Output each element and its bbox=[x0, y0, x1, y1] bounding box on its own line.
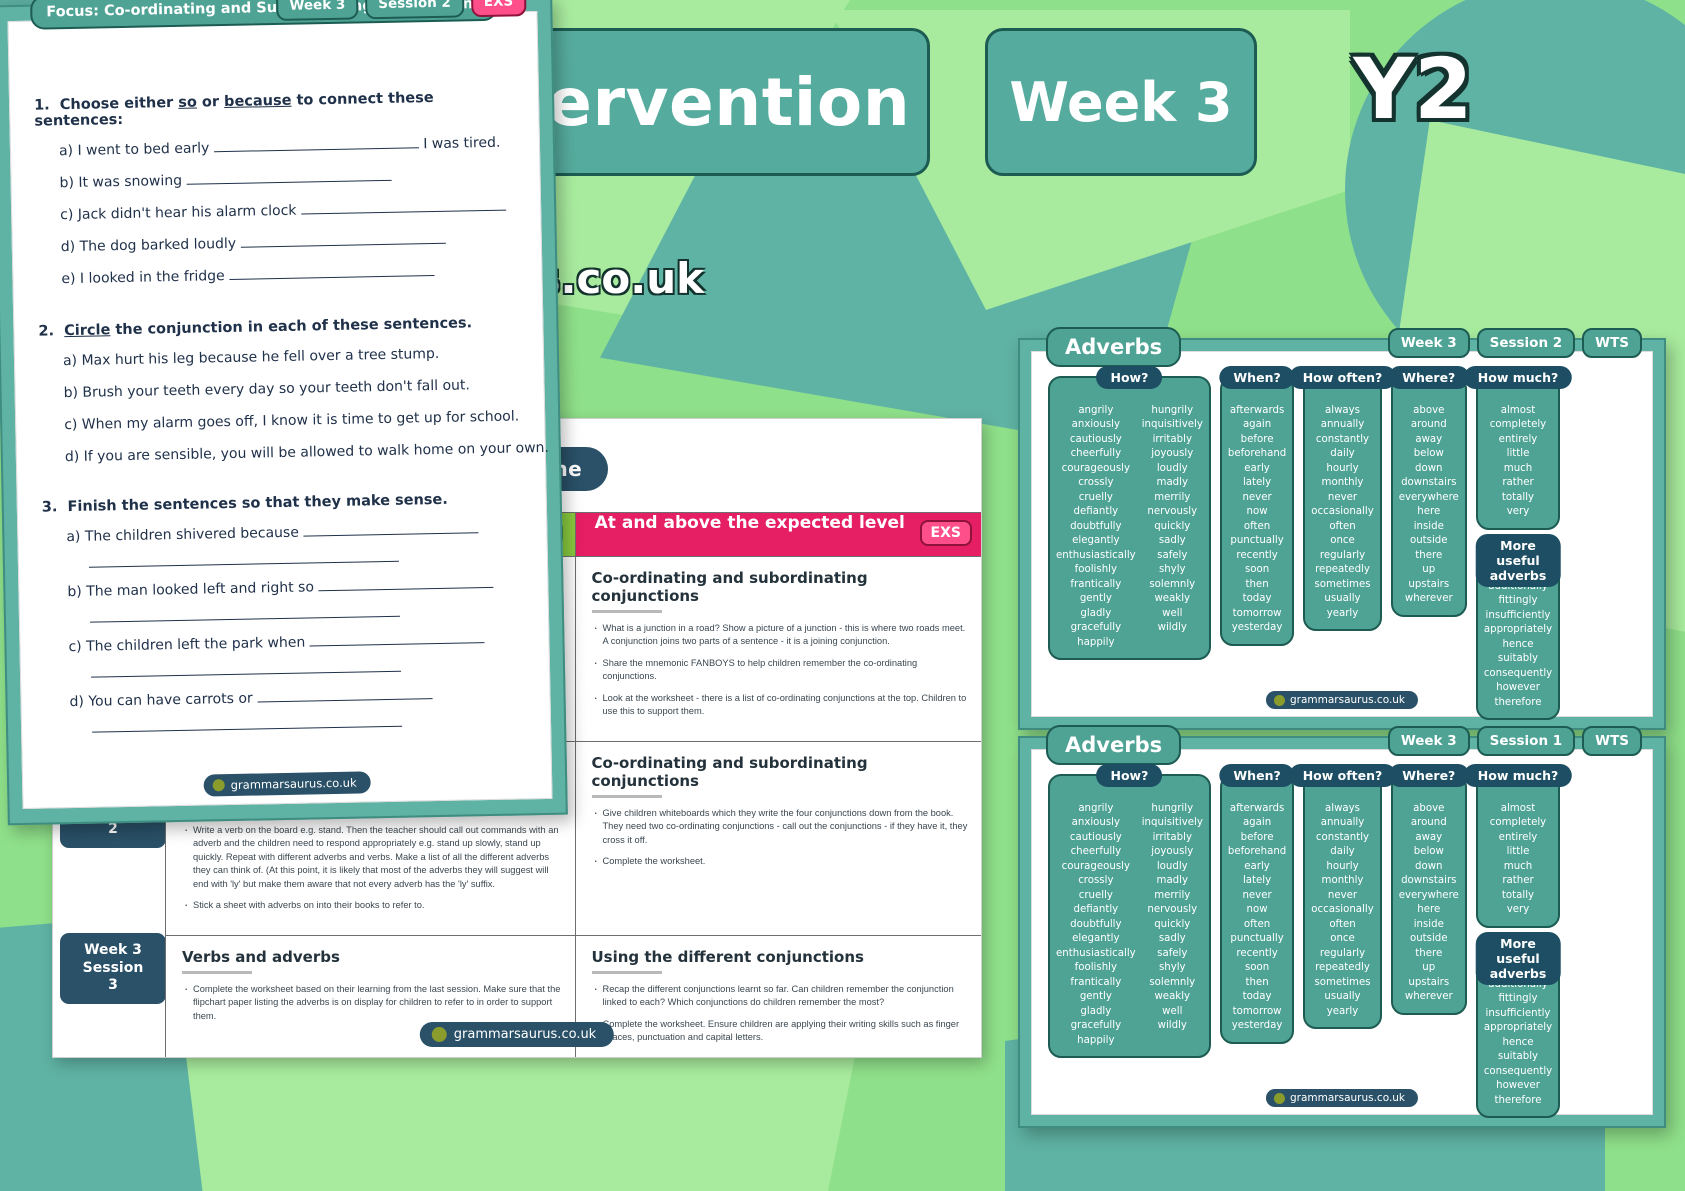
adverb-column-where: Where?abovearoundawaybelowdowndownstairs… bbox=[1391, 774, 1467, 1015]
adverb-word: punctually bbox=[1230, 932, 1283, 946]
adverb-word: shyly bbox=[1159, 563, 1186, 577]
worksheet-question-item[interactable]: b) It was snowing bbox=[59, 166, 515, 191]
adverb-column-heading: More useful adverbs bbox=[1476, 932, 1561, 985]
document-conjunctions-worksheet[interactable]: Focus: Co-ordinating and Subordinating c… bbox=[0, 0, 568, 825]
adverb-word: hence bbox=[1502, 1036, 1533, 1050]
adverbs-poster-page-1: Adverbs Week 3 Session 1 WTS How?angrily… bbox=[1031, 749, 1653, 1115]
adverb-word: regularly bbox=[1320, 549, 1365, 563]
adverb-word: gently bbox=[1080, 592, 1112, 606]
adverb-column-howoften: How often?alwaysannuallyconstantlydailyh… bbox=[1303, 376, 1381, 631]
adverb-word: wherever bbox=[1405, 592, 1453, 606]
adverb-word: repeatedly bbox=[1315, 961, 1370, 975]
adverb-word: never bbox=[1242, 889, 1271, 903]
adverb-word: however bbox=[1496, 681, 1540, 695]
adverb-word: recently bbox=[1236, 947, 1277, 961]
adverb-word: sadly bbox=[1159, 932, 1186, 946]
adverb-word: beforehand bbox=[1228, 447, 1286, 461]
adverb-word: crossly bbox=[1078, 476, 1113, 490]
year-group-badge: Y2 bbox=[1318, 34, 1508, 144]
adverbs-columns-1: How?angrilyanxiouslycautiouslycheerfully… bbox=[1048, 774, 1640, 1118]
adverb-word: repeatedly bbox=[1315, 563, 1370, 577]
adverb-word-list-b: hungrilyinquisitivelyirritablyjoyouslylo… bbox=[1142, 404, 1203, 650]
adverb-word: downstairs bbox=[1401, 476, 1456, 490]
adverb-word: completely bbox=[1490, 816, 1546, 830]
part-one-footer: grammarsaurus.co.uk bbox=[420, 1022, 614, 1047]
adverb-word: weakly bbox=[1154, 990, 1190, 1004]
adverb-word: beforehand bbox=[1228, 845, 1286, 859]
table-cell-exs: Co-ordinating and subordinating conjunct… bbox=[575, 741, 982, 935]
adverb-word: today bbox=[1243, 592, 1272, 606]
adverb-word: doubtfully bbox=[1070, 918, 1121, 932]
grammarsaurus-dot-icon bbox=[1274, 1093, 1285, 1104]
adverb-word: angrily bbox=[1078, 802, 1113, 816]
adverb-column-how: How?angrilyanxiouslycautiouslycheerfully… bbox=[1048, 774, 1211, 1058]
adverb-word: outside bbox=[1410, 932, 1448, 946]
answer-blank-line[interactable] bbox=[90, 616, 400, 623]
adverb-word: occasionally bbox=[1311, 505, 1373, 519]
adverb-word: well bbox=[1162, 1005, 1182, 1019]
adverb-word: below bbox=[1414, 447, 1444, 461]
adverb-column-group: How much?almostcompletelyentirelylittlem… bbox=[1476, 376, 1560, 720]
item-label: c) bbox=[60, 207, 78, 223]
question-3-block: 3. Finish the sentences so that they mak… bbox=[18, 490, 550, 734]
adverb-column-heading: How much? bbox=[1464, 366, 1572, 389]
heading-rule bbox=[592, 795, 662, 798]
adverbs-poster-title-1: Adverbs bbox=[1046, 725, 1181, 765]
week-banner: Week 3 bbox=[985, 28, 1257, 176]
item-text: You can have carrots or bbox=[88, 690, 257, 709]
adverb-word: doubtfully bbox=[1070, 520, 1121, 534]
adverb-column-group: How often?alwaysannuallyconstantlydailyh… bbox=[1303, 376, 1381, 631]
cell-bullet: What is a junction in a road? Show a pic… bbox=[592, 622, 971, 649]
adverb-word-list-a: angrilyanxiouslycautiouslycheerfullycour… bbox=[1056, 404, 1136, 650]
adverb-word-list-a: afterwardsagainbeforebeforehandearlylate… bbox=[1228, 404, 1286, 636]
question-1-block: 1. Choose either so or because to connec… bbox=[10, 88, 542, 288]
cell-bullet: Complete the worksheet based on their le… bbox=[182, 983, 561, 1023]
adverb-word: upstairs bbox=[1408, 578, 1449, 592]
adverb-word: tomorrow bbox=[1233, 1005, 1282, 1019]
adverb-word: away bbox=[1415, 433, 1442, 447]
worksheet-question-item[interactable]: a) The children shivered because bbox=[66, 520, 522, 545]
adverb-column-heading: When? bbox=[1219, 764, 1294, 787]
adverb-word: foolishly bbox=[1075, 961, 1117, 975]
adverbs-poster-badges-1: Week 3 Session 1 WTS bbox=[1388, 726, 1642, 756]
adverb-word: courageously bbox=[1062, 462, 1130, 476]
adverb-word: early bbox=[1244, 860, 1270, 874]
item-text-after: I was tired. bbox=[419, 135, 501, 153]
worksheet-question-item[interactable]: a) Max hurt his leg because he fell over… bbox=[63, 344, 519, 369]
adverb-word: wildly bbox=[1158, 1019, 1187, 1033]
worksheet-question-item[interactable]: d) The dog barked loudly bbox=[61, 230, 517, 255]
item-text: I went to bed early bbox=[77, 140, 214, 159]
adverb-word-list-a: abovearoundawaybelowdowndownstairseveryw… bbox=[1399, 404, 1459, 607]
adverb-word: yearly bbox=[1327, 1005, 1359, 1019]
adverb-word: always bbox=[1325, 802, 1360, 816]
adverb-word: above bbox=[1413, 404, 1444, 418]
adverb-word: joyously bbox=[1151, 447, 1193, 461]
adverb-word: annually bbox=[1321, 816, 1365, 830]
adverb-word: punctually bbox=[1230, 534, 1283, 548]
adverb-word: fittingly bbox=[1498, 594, 1537, 608]
adverb-word: there bbox=[1415, 947, 1442, 961]
year-group-label: Y2 bbox=[1353, 40, 1472, 138]
adverb-word-list-a: abovearoundawaybelowdowndownstairseveryw… bbox=[1399, 802, 1459, 1005]
adverb-word: loudly bbox=[1157, 462, 1188, 476]
adverb-column-group: How?angrilyanxiouslycautiouslycheerfully… bbox=[1048, 774, 1211, 1058]
column-header-exs: At and above the expected level EXS bbox=[575, 513, 982, 557]
session-tag-3: Week 3 Session 3 bbox=[60, 933, 166, 1004]
adverb-word: here bbox=[1417, 505, 1440, 519]
item-label: e) bbox=[61, 271, 80, 287]
cell-bullet: Give children whiteboards which they wri… bbox=[592, 807, 971, 847]
adverb-word: wildly bbox=[1158, 621, 1187, 635]
adverb-word: joyously bbox=[1151, 845, 1193, 859]
adverb-word: entirely bbox=[1499, 831, 1538, 845]
worksheet-question-item[interactable]: d) You can have carrots or bbox=[69, 685, 525, 710]
adverb-word: happily bbox=[1077, 636, 1114, 650]
worksheet-footer: grammarsaurus.co.uk bbox=[203, 771, 370, 796]
adverb-word: constantly bbox=[1316, 433, 1369, 447]
adverb-column-heading: Where? bbox=[1388, 764, 1469, 787]
adverb-word: rather bbox=[1502, 874, 1533, 888]
adverbs-poster-footer-1: grammarsaurus.co.uk bbox=[1266, 1089, 1418, 1107]
adverb-word: regularly bbox=[1320, 947, 1365, 961]
cell-bullet: Recap the different conjunctions learnt … bbox=[592, 983, 971, 1010]
adverb-word: irritably bbox=[1153, 433, 1192, 447]
adverb-word: much bbox=[1504, 462, 1532, 476]
adverb-word: madly bbox=[1157, 476, 1189, 490]
adverb-word: very bbox=[1507, 505, 1530, 519]
adverb-word: very bbox=[1507, 903, 1530, 917]
adverb-word: enthusiastically bbox=[1056, 947, 1136, 961]
answer-blank-line[interactable] bbox=[91, 671, 401, 678]
adverb-word-list-a: almostcompletelyentirelylittlemuchrather… bbox=[1490, 404, 1546, 520]
adverb-word: often bbox=[1244, 520, 1270, 534]
worksheet-question-item[interactable]: d) If you are sensible, you will be allo… bbox=[65, 440, 521, 465]
adverb-word: above bbox=[1413, 802, 1444, 816]
adverb-column-group: How much?almostcompletelyentirelylittlem… bbox=[1476, 774, 1560, 1118]
adverb-word: again bbox=[1243, 418, 1271, 432]
adverb-word: inside bbox=[1414, 520, 1444, 534]
answer-blank[interactable] bbox=[303, 532, 478, 536]
adverb-word: sometimes bbox=[1314, 578, 1370, 592]
adverb-word: safely bbox=[1157, 947, 1187, 961]
heading-rule bbox=[592, 971, 662, 974]
item-text: The children left the park when bbox=[86, 634, 310, 654]
document-adverbs-poster-session-2[interactable]: Adverbs Week 3 Session 2 WTS How?angrily… bbox=[1018, 338, 1666, 730]
adverb-word: gladly bbox=[1080, 607, 1111, 621]
adverb-word: little bbox=[1507, 447, 1530, 461]
question-2-items: a) Max hurt his leg because he fell over… bbox=[39, 344, 521, 465]
adverb-word: inquisitively bbox=[1142, 816, 1203, 830]
table-cell-exs: Using the different conjunctionsRecap th… bbox=[575, 935, 982, 1058]
adverb-word: around bbox=[1411, 816, 1447, 830]
adverb-word: therefore bbox=[1494, 696, 1541, 710]
adverbs-poster-badges-2: Week 3 Session 2 WTS bbox=[1388, 328, 1642, 358]
adverb-word: almost bbox=[1501, 404, 1536, 418]
worksheet-question-item[interactable]: c) When my alarm goes off, I know it is … bbox=[64, 408, 520, 433]
adverb-word: weakly bbox=[1154, 592, 1190, 606]
adverb-word: shyly bbox=[1159, 961, 1186, 975]
cell-bullet: Stick a sheet with adverbs on into their… bbox=[182, 899, 561, 912]
adverb-word: fittingly bbox=[1498, 992, 1537, 1006]
adverb-word: hourly bbox=[1326, 462, 1358, 476]
adverb-word: suitably bbox=[1498, 1050, 1538, 1064]
adverb-column-heading: More useful adverbs bbox=[1476, 534, 1561, 587]
item-label: c) bbox=[68, 639, 86, 655]
adverb-word: therefore bbox=[1494, 1094, 1541, 1108]
adverb-word: hence bbox=[1502, 638, 1533, 652]
adverb-word: cheerfully bbox=[1071, 447, 1122, 461]
poster2-badge-session: Session 2 bbox=[1477, 328, 1576, 358]
adverb-column-heading: When? bbox=[1219, 366, 1294, 389]
adverb-word: cruelly bbox=[1079, 889, 1113, 903]
adverb-word: nervously bbox=[1147, 505, 1197, 519]
question-2-prompt: 2. Circle the conjunction in each of the… bbox=[38, 314, 518, 339]
heading-rule bbox=[182, 971, 252, 974]
adverb-column-heading: How often? bbox=[1289, 764, 1397, 787]
adverb-word: before bbox=[1241, 831, 1274, 845]
item-label: a) bbox=[66, 529, 85, 545]
adverb-word: consequently bbox=[1484, 667, 1552, 681]
adverb-word: almost bbox=[1501, 802, 1536, 816]
poster1-badge-session: Session 1 bbox=[1477, 726, 1576, 756]
adverb-word: lately bbox=[1243, 476, 1271, 490]
adverb-column-how: How?angrilyanxiouslycautiouslycheerfully… bbox=[1048, 376, 1211, 660]
adverb-word: appropriately bbox=[1484, 1021, 1552, 1035]
adverbs-columns-2: How?angrilyanxiouslycautiouslycheerfully… bbox=[1048, 376, 1640, 720]
adverb-word: up bbox=[1422, 563, 1435, 577]
adverb-word: cautiously bbox=[1070, 831, 1122, 845]
adverb-word: usually bbox=[1324, 592, 1360, 606]
adverb-word: once bbox=[1330, 534, 1355, 548]
worksheet-question-item[interactable]: b) The man looked left and right so bbox=[67, 575, 523, 600]
worksheet-question-item[interactable]: c) Jack didn't hear his alarm clock bbox=[60, 198, 516, 223]
cell-bullet: Complete the worksheet. bbox=[592, 855, 971, 868]
answer-blank[interactable] bbox=[187, 180, 392, 185]
adverb-column-when: When?afterwardsagainbeforebeforehandearl… bbox=[1220, 774, 1294, 1044]
adverb-column-where: Where?abovearoundawaybelowdowndownstairs… bbox=[1391, 376, 1467, 617]
adverb-word: yesterday bbox=[1232, 1019, 1283, 1033]
adverb-word: gladly bbox=[1080, 1005, 1111, 1019]
adverb-word: crossly bbox=[1078, 874, 1113, 888]
adverb-word: defiantly bbox=[1073, 505, 1118, 519]
question-1-prompt: 1. Choose either so or because to connec… bbox=[34, 88, 515, 129]
adverb-word: often bbox=[1329, 520, 1355, 534]
adverb-word: hourly bbox=[1326, 860, 1358, 874]
adverb-column-heading: Where? bbox=[1388, 366, 1469, 389]
adverb-column-heading: How? bbox=[1096, 764, 1162, 787]
answer-blank[interactable] bbox=[257, 698, 432, 702]
adverb-word: again bbox=[1243, 816, 1271, 830]
adverb-word: soon bbox=[1245, 563, 1269, 577]
adverb-column-howoften: How often?alwaysannuallyconstantlydailyh… bbox=[1303, 774, 1381, 1029]
adverb-word: yesterday bbox=[1232, 621, 1283, 635]
item-text: The man looked left and right so bbox=[86, 579, 318, 599]
item-text: The children shivered because bbox=[85, 525, 304, 545]
resource-preview-page: Grammar Intervention Week 3 Y2 G grammar… bbox=[0, 0, 1685, 1191]
adverb-word: now bbox=[1247, 505, 1268, 519]
item-text: The dog barked loudly bbox=[79, 236, 240, 255]
adverb-word: totally bbox=[1502, 889, 1534, 903]
adverb-column-group: Where?abovearoundawaybelowdowndownstairs… bbox=[1391, 376, 1467, 617]
worksheet-question-item[interactable]: c) The children left the park when bbox=[68, 630, 524, 655]
adverb-word: cruelly bbox=[1079, 491, 1113, 505]
adverb-word: there bbox=[1415, 549, 1442, 563]
item-label: b) bbox=[67, 584, 86, 600]
adverb-column-more-useful-adverbs: More useful adverbsadditionallyfittingly… bbox=[1476, 544, 1560, 720]
adverb-word: gently bbox=[1080, 990, 1112, 1004]
cell-heading: Verbs and adverbs bbox=[182, 948, 561, 966]
cell-bullet: Complete the worksheet. Ensure children … bbox=[592, 1018, 971, 1045]
answer-blank-line[interactable] bbox=[92, 726, 402, 733]
cell-bullet: Share the mnemonic FANBOYS to help child… bbox=[592, 657, 971, 684]
adverb-word: daily bbox=[1330, 447, 1354, 461]
worksheet-question-item[interactable]: b) Brush your teeth every day so your te… bbox=[63, 376, 519, 401]
adverb-word: foolishly bbox=[1075, 563, 1117, 577]
adverb-word: often bbox=[1329, 918, 1355, 932]
document-adverbs-poster-session-1[interactable]: Adverbs Week 3 Session 1 WTS How?angrily… bbox=[1018, 736, 1666, 1128]
adverb-word: up bbox=[1422, 961, 1435, 975]
adverb-word: now bbox=[1247, 903, 1268, 917]
adverb-word: defiantly bbox=[1073, 903, 1118, 917]
adverb-word: appropriately bbox=[1484, 623, 1552, 637]
adverb-word: completely bbox=[1490, 418, 1546, 432]
worksheet-badge-week: Week 3 bbox=[276, 0, 358, 21]
answer-blank[interactable] bbox=[241, 243, 446, 248]
grammarsaurus-dot-icon bbox=[1274, 695, 1285, 706]
poster1-badge-level: WTS bbox=[1582, 726, 1642, 756]
adverb-column-group: Where?abovearoundawaybelowdowndownstairs… bbox=[1391, 774, 1467, 1015]
adverb-column-group: When?afterwardsagainbeforebeforehandearl… bbox=[1220, 376, 1294, 646]
adverb-word: always bbox=[1325, 404, 1360, 418]
adverb-word-list-a: afterwardsagainbeforebeforehandearlylate… bbox=[1228, 802, 1286, 1034]
item-text: Jack didn't hear his alarm clock bbox=[78, 203, 301, 223]
adverb-word: today bbox=[1243, 990, 1272, 1004]
worksheet-question-item[interactable]: a) I went to bed early I was tired. bbox=[59, 134, 515, 159]
adverb-word-list-a: almostcompletelyentirelylittlemuchrather… bbox=[1490, 802, 1546, 918]
item-label: a) bbox=[59, 143, 78, 159]
adverb-word: away bbox=[1415, 831, 1442, 845]
adverb-word: madly bbox=[1157, 874, 1189, 888]
adverb-word: constantly bbox=[1316, 831, 1369, 845]
adverb-word: everywhere bbox=[1399, 491, 1459, 505]
adverb-word: afterwards bbox=[1230, 802, 1284, 816]
adverb-word: rather bbox=[1502, 476, 1533, 490]
adverb-column-howmuch: How much?almostcompletelyentirelylittlem… bbox=[1476, 376, 1560, 530]
adverb-word: hungrily bbox=[1151, 404, 1193, 418]
adverb-word: inquisitively bbox=[1142, 418, 1203, 432]
adverb-word: early bbox=[1244, 462, 1270, 476]
adverb-word: cheerfully bbox=[1071, 845, 1122, 859]
worksheet-badge-level: EXS bbox=[471, 0, 527, 17]
cell-heading: Co-ordinating and subordinating conjunct… bbox=[592, 569, 971, 605]
adverb-word: little bbox=[1507, 845, 1530, 859]
item-label: d) bbox=[69, 694, 88, 710]
adverb-word: loudly bbox=[1157, 860, 1188, 874]
adverb-word: once bbox=[1330, 932, 1355, 946]
adverb-column-heading: How? bbox=[1096, 366, 1162, 389]
adverb-word-list-extra: additionallyfittinglyinsufficientlyappro… bbox=[1484, 580, 1552, 710]
table-cell-exs: Co-ordinating and subordinating conjunct… bbox=[575, 557, 982, 742]
poster2-badge-level: WTS bbox=[1582, 328, 1642, 358]
adverb-word: then bbox=[1245, 578, 1268, 592]
adverb-word: never bbox=[1328, 491, 1357, 505]
adverb-word: yearly bbox=[1327, 607, 1359, 621]
adverb-word: entirely bbox=[1499, 433, 1538, 447]
item-label: b) bbox=[59, 175, 78, 191]
adverb-word: lately bbox=[1243, 874, 1271, 888]
adverb-word: angrily bbox=[1078, 404, 1113, 418]
answer-blank[interactable] bbox=[229, 275, 434, 280]
adverb-word: insufficiently bbox=[1486, 609, 1551, 623]
adverb-word: elegantly bbox=[1072, 534, 1119, 548]
adverb-word: down bbox=[1415, 860, 1443, 874]
answer-blank[interactable] bbox=[318, 587, 493, 591]
adverb-word: solemnly bbox=[1149, 578, 1195, 592]
adverb-word: courageously bbox=[1062, 860, 1130, 874]
adverb-word-list-a: alwaysannuallyconstantlydailyhourlymonth… bbox=[1311, 404, 1373, 621]
worksheet-badge-session: Session 2 bbox=[365, 0, 464, 19]
adverb-word: solemnly bbox=[1149, 976, 1195, 990]
adverb-column-group: How?angrilyanxiouslycautiouslycheerfully… bbox=[1048, 376, 1211, 660]
adverb-column-heading: How often? bbox=[1289, 366, 1397, 389]
answer-blank[interactable] bbox=[310, 642, 485, 646]
adverb-word: cautiously bbox=[1070, 433, 1122, 447]
adverb-word: sometimes bbox=[1314, 976, 1370, 990]
badge-exs: EXS bbox=[920, 520, 972, 546]
answer-blank[interactable] bbox=[214, 147, 419, 152]
adverb-word: insufficiently bbox=[1486, 1007, 1551, 1021]
adverb-word: below bbox=[1414, 845, 1444, 859]
adverb-word: enthusiastically bbox=[1056, 549, 1136, 563]
adverb-column-group: How often?alwaysannuallyconstantlydailyh… bbox=[1303, 774, 1381, 1029]
adverb-word: totally bbox=[1502, 491, 1534, 505]
adverb-word: however bbox=[1496, 1079, 1540, 1093]
adverb-word: merrily bbox=[1154, 889, 1190, 903]
adverb-word: elegantly bbox=[1072, 932, 1119, 946]
cell-heading: Using the different conjunctions bbox=[592, 948, 971, 966]
adverb-column-more-useful-adverbs: More useful adverbsadditionallyfittingly… bbox=[1476, 942, 1560, 1118]
item-text: I looked in the fridge bbox=[80, 268, 229, 287]
adverb-word: merrily bbox=[1154, 491, 1190, 505]
adverb-word: consequently bbox=[1484, 1065, 1552, 1079]
adverb-word: frantically bbox=[1070, 976, 1121, 990]
adverb-word: monthly bbox=[1322, 874, 1364, 888]
adverb-word: monthly bbox=[1322, 476, 1364, 490]
adverb-word-list-extra: additionallyfittinglyinsufficientlyappro… bbox=[1484, 978, 1552, 1108]
item-label: d) bbox=[61, 239, 80, 255]
adverbs-poster-title-2: Adverbs bbox=[1046, 327, 1181, 367]
cell-heading: Co-ordinating and subordinating conjunct… bbox=[592, 754, 971, 790]
adverbs-poster-page-2: Adverbs Week 3 Session 2 WTS How?angrily… bbox=[1031, 351, 1653, 717]
answer-blank[interactable] bbox=[301, 210, 506, 215]
adverb-word: upstairs bbox=[1408, 976, 1449, 990]
adverb-word: down bbox=[1415, 462, 1443, 476]
adverb-word: annually bbox=[1321, 418, 1365, 432]
week-label: Week 3 bbox=[1009, 71, 1232, 134]
worksheet-question-item[interactable]: e) I looked in the fridge bbox=[61, 262, 517, 287]
adverb-word: soon bbox=[1245, 961, 1269, 975]
adverb-word: recently bbox=[1236, 549, 1277, 563]
adverb-word: happily bbox=[1077, 1034, 1114, 1048]
worksheet-page: Focus: Co-ordinating and Subordinating c… bbox=[7, 11, 552, 809]
adverbs-poster-footer-2: grammarsaurus.co.uk bbox=[1266, 691, 1418, 709]
adverb-word: irritably bbox=[1153, 831, 1192, 845]
adverb-word: tomorrow bbox=[1233, 607, 1282, 621]
adverb-word: outside bbox=[1410, 534, 1448, 548]
answer-blank-line[interactable] bbox=[89, 561, 399, 568]
